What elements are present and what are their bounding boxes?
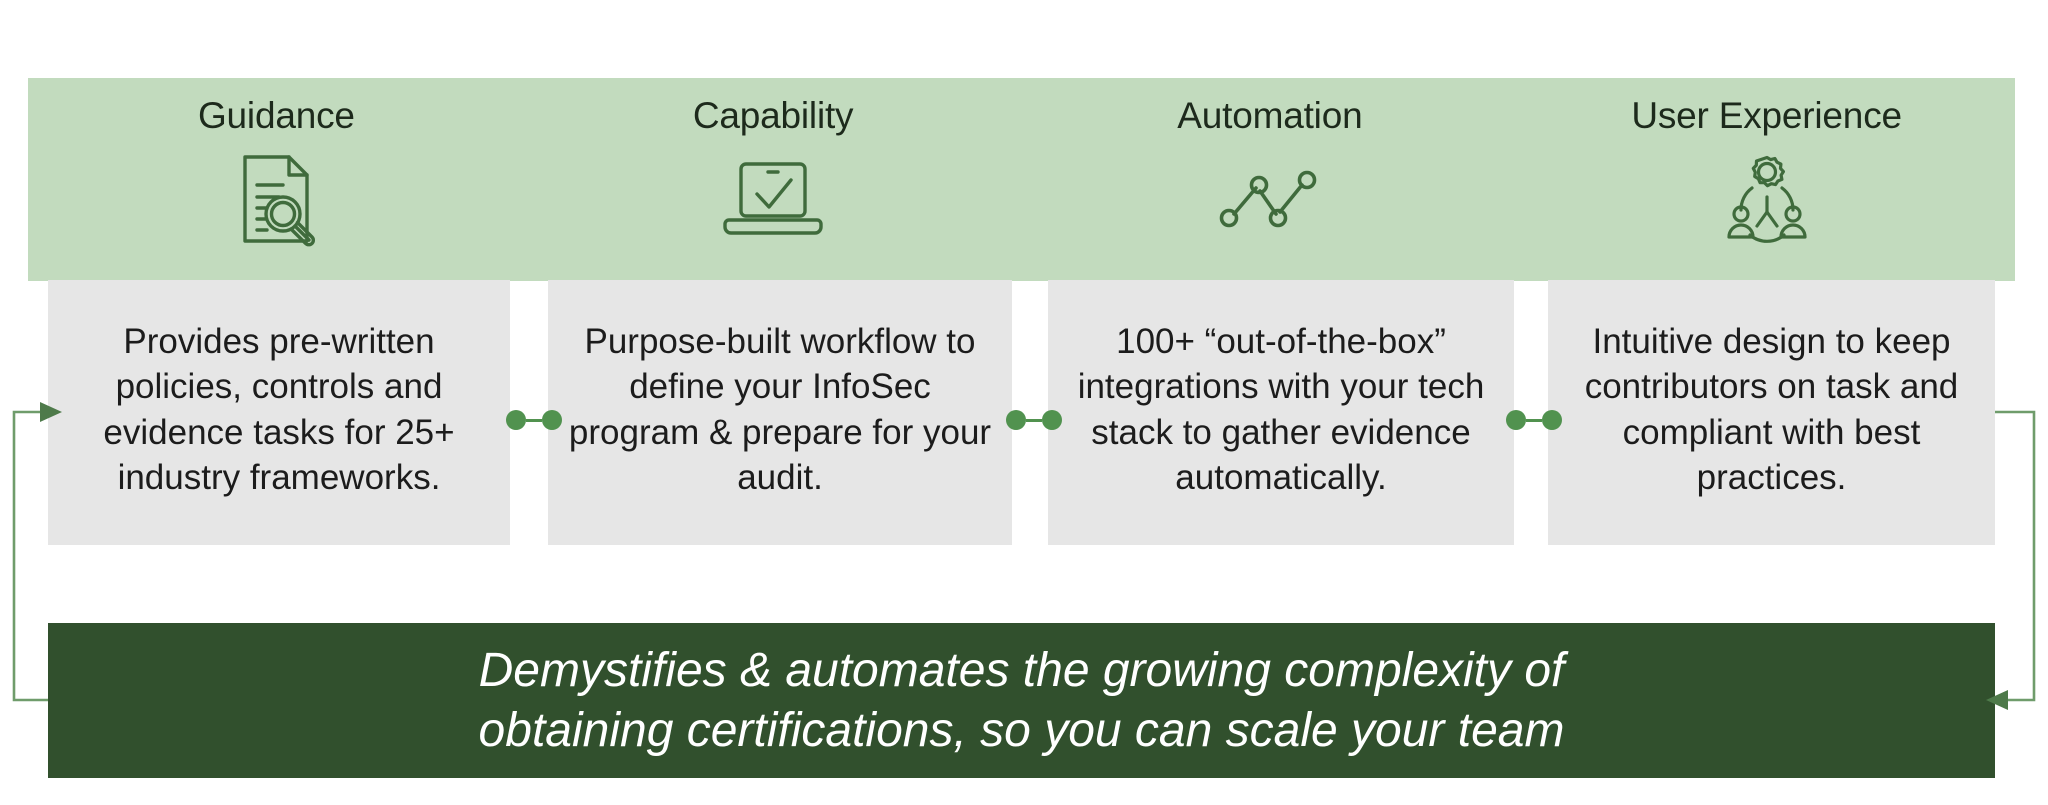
connector-automation-user-experience [1506,408,1562,432]
pillar-card-text-user-experience: Intuitive design to keep contributors on… [1564,319,1979,501]
pillar-title-user-experience: User Experience [1631,96,1902,137]
pillar-headers: Guidance Capability [28,78,2015,281]
connector-line [1026,419,1042,422]
summary-banner: Demystifies & automates the growing comp… [48,623,1995,778]
connector-dot-left-icon [1006,410,1026,430]
summary-banner-text: Demystifies & automates the growing comp… [479,641,1565,760]
connected-nodes-graph-icon [1215,151,1325,247]
connector-line [526,419,542,422]
pillar-title-guidance: Guidance [198,96,355,137]
diagram-canvas: Guidance Capability [0,0,2048,805]
pillar-card-guidance[interactable]: Provides pre-written policies, controls … [48,280,510,545]
pillar-title-capability: Capability [693,96,853,137]
connector-dot-right-icon [542,410,562,430]
laptop-checkmark-icon [718,151,828,247]
pillar-card-capability[interactable]: Purpose-built workflow to define your In… [548,280,1012,545]
connector-guidance-capability [506,408,562,432]
pillar-title-automation: Automation [1177,96,1362,137]
pillar-card-user-experience[interactable]: Intuitive design to keep contributors on… [1548,280,1995,545]
pillar-card-text-automation: 100+ “out-of-the-box” integrations with … [1064,319,1498,501]
pillar-header-user-experience[interactable]: User Experience [1518,78,2015,281]
pillar-header-guidance[interactable]: Guidance [28,78,525,281]
pillar-card-automation[interactable]: 100+ “out-of-the-box” integrations with … [1048,280,1514,545]
pillar-card-text-guidance: Provides pre-written policies, controls … [64,319,494,501]
pillar-header-capability[interactable]: Capability [525,78,1022,281]
connector-dot-right-icon [1542,410,1562,430]
pillar-card-text-capability: Purpose-built workflow to define your In… [564,319,996,501]
connector-dot-left-icon [506,410,526,430]
connector-dot-right-icon [1042,410,1062,430]
pillar-header-automation[interactable]: Automation [1022,78,1519,281]
connector-capability-automation [1006,408,1062,432]
connector-dot-left-icon [1506,410,1526,430]
document-magnifier-icon [221,151,331,247]
gear-with-users-icon [1712,151,1822,247]
connector-line [1526,419,1542,422]
